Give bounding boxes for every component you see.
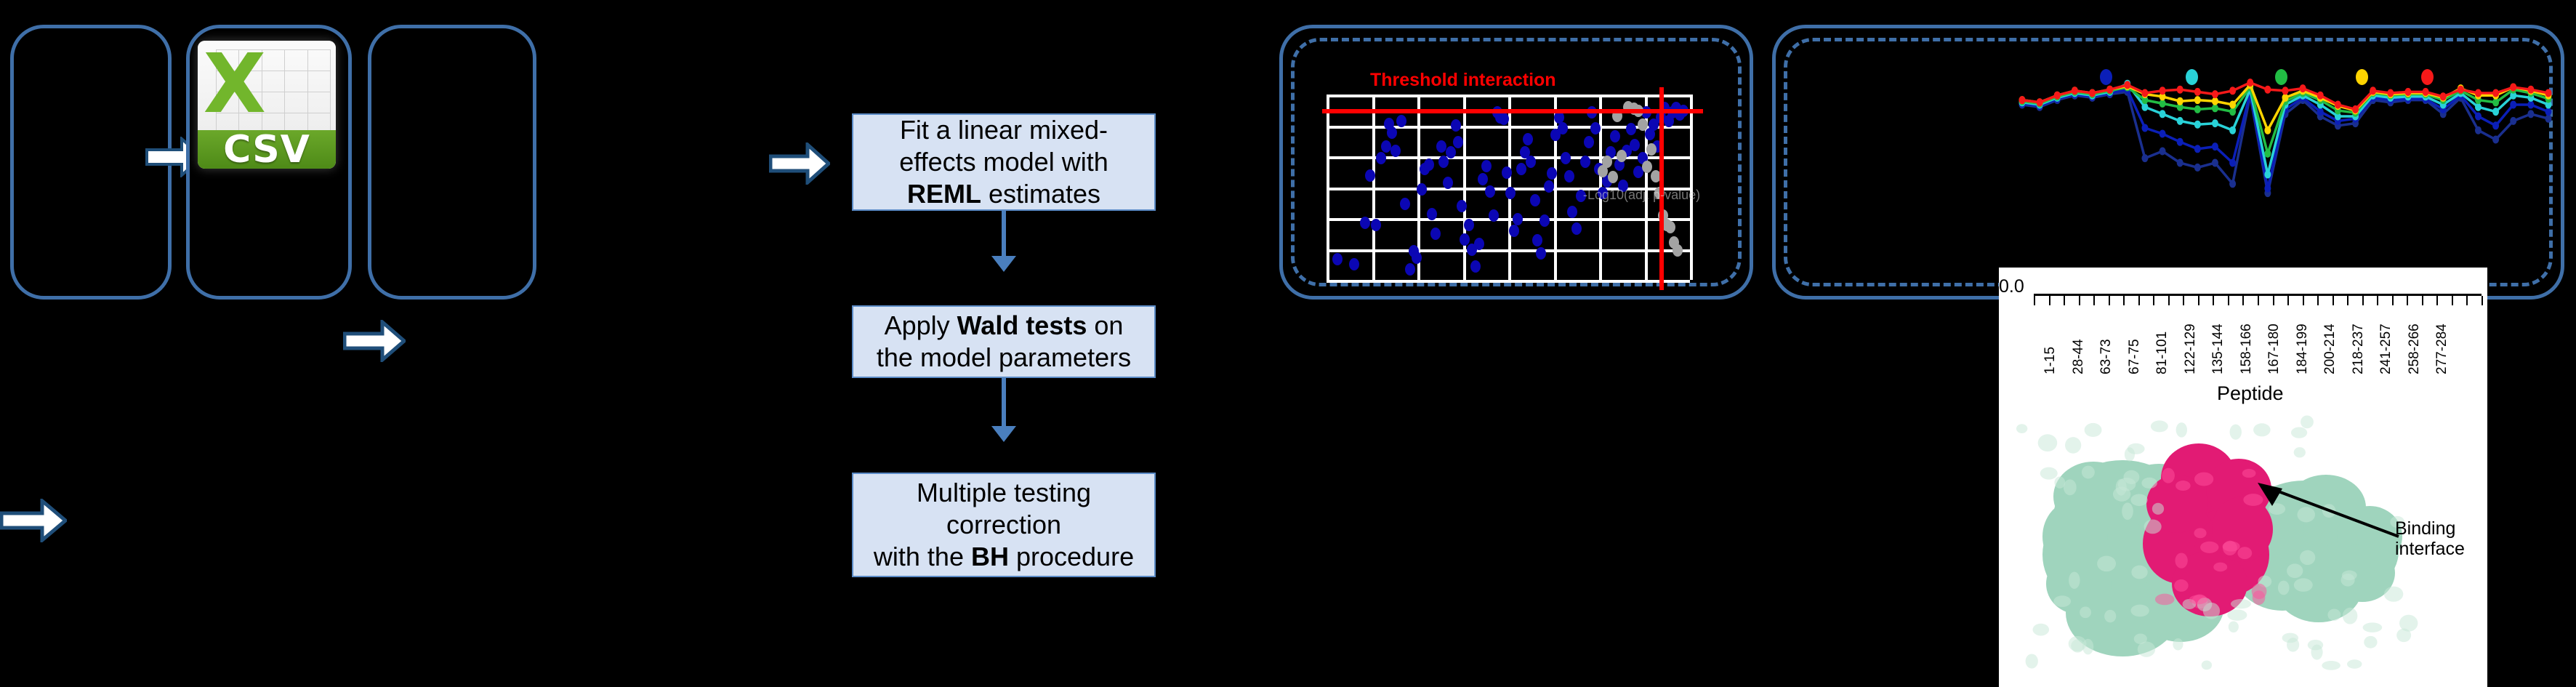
scatter-point [1502,166,1512,179]
excel-x-glyph: X [204,44,259,105]
line-marker [2475,126,2482,134]
line-marker [2194,105,2201,113]
grid-line-v [1372,95,1375,280]
legend-dot-series-blue [2100,69,2112,85]
line-marker [2194,145,2201,153]
surface-blob [2134,633,2147,643]
threshold-interaction-label: Threshold interaction [1370,70,1556,91]
surface-blob [2130,605,2149,617]
scatter-point [1424,158,1434,171]
step-fit-model[interactable]: Fit a linear mixed- effects model with R… [852,113,1156,211]
surface-blob [2131,566,2147,579]
x-axis-ticks [2034,296,2482,306]
x-axis-tick [2034,296,2035,305]
surface-blob [2300,550,2315,565]
surface-blob [2291,427,2307,438]
peptide-label: 28-44 [2071,339,2087,374]
peptide-label: 277-284 [2434,324,2450,374]
scatter-point [1516,163,1526,175]
surface-blob [2016,424,2027,433]
step-fit-model-text: Fit a linear mixed- effects model with R… [899,114,1108,210]
x-axis-tick [2228,296,2229,305]
scatter-point [1387,126,1397,139]
surface-blob [2322,661,2340,670]
x-axis-tick [2287,296,2289,305]
line-marker [2141,154,2148,162]
surface-blob [2173,638,2183,650]
scatter-point [1481,160,1492,172]
surface-blob [2082,466,2095,479]
connector-2-head [991,426,1016,442]
x-axis-tick [2049,296,2050,305]
surface-blob [2308,640,2323,650]
scatter-point [1396,115,1406,127]
surface-blob [2151,420,2168,432]
line-marker [2510,117,2516,125]
scatter-point [1371,219,1381,231]
line-marker [2264,150,2271,158]
surface-blob [2118,478,2136,491]
line-marker [2141,124,2148,132]
scatter-point [1332,253,1343,265]
scatter-point [1349,258,1359,270]
peptide-label: 122-129 [2183,324,2199,374]
peptide-label: 200-214 [2322,324,2338,374]
surface-blob [2194,528,2206,538]
line-marker [2352,105,2359,113]
line-marker [2475,103,2482,111]
surface-blob [2287,563,2303,578]
surface-blob [2097,556,2116,572]
y-axis-tick-zero: 0.0 [1999,276,2024,297]
surface-blob [2174,579,2188,592]
surface-blob [2223,542,2240,552]
surface-blob [2253,423,2271,436]
peptide-label: 184-199 [2295,324,2311,374]
csv-file-icon[interactable]: X CSV [198,41,336,169]
peptide-tick-labels: 1-1528-4463-7367-7581-101122-129135-1441… [2034,308,2482,380]
line-marker [2229,159,2236,167]
peptide-label: 241-257 [2378,324,2394,374]
surface-blob [2213,563,2227,572]
line-marker [2264,126,2271,134]
surface-blob [2327,608,2340,620]
surface-blob [2343,608,2357,624]
surface-blob [2242,469,2256,478]
scatter-point [1536,247,1546,260]
line-marker [2160,130,2166,138]
scatter-axis-note: -Log10(adj. p-value) [1583,188,1700,203]
step-multiple-testing-text: Multiple testing correction with the BH … [874,477,1134,573]
grid-line-h [1327,280,1690,283]
line-marker [2527,110,2534,118]
scatter-point [1539,214,1550,227]
surface-blob [2294,578,2313,592]
arrow-csv-to-analysis [769,142,830,185]
surface-blob [2065,437,2081,454]
scatter-point [1602,156,1612,168]
x-axis-tick [2258,296,2259,305]
line-marker [2194,121,2201,129]
line-marker [2160,100,2166,108]
peptide-label: 158-166 [2239,324,2255,374]
line-marker [2229,108,2236,116]
x-axis-tick [2317,296,2319,305]
x-axis-tick [2422,296,2423,305]
surface-blob [2294,447,2306,457]
x-axis-tick [2392,296,2394,305]
x-axis-tick [2183,296,2184,305]
scatter-point [1485,185,1495,198]
connector-1 [1002,211,1006,260]
surface-blob [2162,468,2175,483]
line-marker [2212,142,2218,150]
scatter-point [1446,146,1456,158]
surface-blob [2176,422,2187,437]
scatter-point [1505,187,1516,199]
x-axis-tick [2242,296,2244,305]
x-axis-title: Peptide [2217,382,2284,405]
peptide-label: 135-144 [2210,324,2226,374]
csv-band: CSV [198,130,336,169]
scatter-point [1580,156,1590,168]
surface-blob [2040,467,2058,480]
line-marker [2229,180,2236,188]
scatter-point [1478,173,1488,185]
x-axis-tick [2153,296,2154,305]
x-axis-tick [2213,296,2214,305]
scatter-point [1513,213,1523,225]
scatter-point [1626,123,1636,135]
line-marker [2194,164,2201,172]
scatter-point [1451,119,1461,132]
x-axis-tick [2452,296,2453,305]
scatter-point [1567,206,1577,218]
scatter-point [1638,118,1648,131]
surface-blob [2194,473,2213,486]
surface-blob [2053,595,2071,607]
scatter-point [1443,177,1453,189]
line-marker [2229,101,2236,109]
surface-blob [2384,587,2403,602]
surface-blob [2071,639,2084,652]
surface-blob [2104,610,2116,623]
scatter-point [1523,133,1533,145]
line-marker [2194,96,2201,104]
surface-blob [2287,638,2299,651]
line-marker [2492,121,2499,129]
peptide-label: 63-73 [2098,339,2114,374]
line-marker [2492,136,2499,144]
scatter-point [1665,221,1675,233]
line-marker [2177,97,2183,105]
peptide-line-chart [2009,73,2561,204]
surface-blob [2278,581,2290,595]
surface-blob [2189,595,2208,604]
surface-blob [2069,571,2080,589]
scatter-point [1376,152,1386,164]
scatter-point [1532,234,1542,246]
scatter-point [1642,161,1652,173]
surface-blob [2347,659,2362,668]
line-marker [2335,101,2341,109]
arrow-input-to-csv [343,320,406,362]
threshold-interaction-line [1322,109,1703,113]
x-axis-tick [2168,296,2170,305]
connector-2 [1002,378,1006,430]
x-axis-tick [2303,296,2304,305]
surface-blob [2152,503,2164,515]
legend-dot-series-yellow [2356,69,2368,85]
line-marker [2212,119,2218,127]
surface-blob [2080,606,2091,618]
line-marker [2212,97,2218,105]
scatter-point [1405,263,1415,276]
csv-band-label: CSV [223,128,310,169]
step-wald-tests-text: Apply Wald tests on the model parameters [877,310,1131,374]
surface-blob [2340,574,2354,587]
line-marker [2440,92,2447,100]
x-axis-tick [2198,296,2199,305]
line-marker [2037,98,2043,106]
line-marker [2510,101,2516,109]
x-axis-tick [2407,296,2408,305]
scatter-point [1400,198,1410,210]
line-marker [2527,101,2534,109]
step-multiple-testing[interactable]: Multiple testing correction with the BH … [852,473,1156,577]
step-wald-tests[interactable]: Apply Wald tests on the model parameters [852,305,1156,378]
line-marker [2212,104,2218,112]
scatter-point [1464,219,1474,231]
surface-blob [2200,542,2218,553]
scatter-point [1489,209,1499,222]
surface-blob [2237,547,2252,559]
surface-blob [2144,520,2162,534]
line-marker [2229,126,2236,134]
arrow-analysis-to-results [0,499,67,542]
x-axis-tick [2138,296,2140,305]
surface-blob [2064,479,2077,495]
scatter-point [1584,136,1594,148]
statistical-analysis-panel [368,25,536,300]
surface-blob [2301,415,2314,428]
scatter-point [1617,150,1627,162]
x-axis-tick [2333,296,2334,305]
scatter-point [1460,233,1470,246]
surface-blob [2125,447,2135,461]
line-marker [2177,117,2183,125]
surface-blob [2202,660,2212,670]
surface-blob [2230,425,2242,440]
line-marker [2177,138,2183,146]
surface-blob [2396,629,2411,643]
scatter-point [1509,225,1519,237]
surface-blob [2364,636,2377,648]
scatter-point [1436,140,1446,153]
x-axis-tick [2064,296,2065,305]
x-axis-tick [2482,296,2483,305]
line-marker [2492,108,2499,116]
scatter-point [1571,222,1582,235]
line-marker [2212,90,2218,98]
peptide-label: 81-101 [2154,332,2170,374]
line-marker [2141,103,2148,111]
grid-line-v [1463,95,1466,280]
protein-surface-model [2013,409,2420,678]
scatter-point [1630,139,1640,151]
line-marker [2317,108,2324,116]
scatter-point [1610,130,1620,142]
line-marker [2492,98,2499,106]
peptide-label: 67-75 [2127,339,2143,374]
surface-blob [2026,654,2038,669]
scatter-point [1430,228,1441,240]
x-axis-tick [2093,296,2095,305]
surface-blob [2175,481,2191,491]
surface-blob [2363,622,2383,632]
scatter-point [1558,122,1568,134]
surface-blob [2082,639,2093,655]
legend-dot-series-red [2421,69,2434,85]
x-axis-tick [2123,296,2125,305]
scatter-point [1365,169,1375,182]
surface-blob [2231,599,2251,608]
line-marker [2019,96,2026,104]
line-marker [2177,159,2183,167]
scatter-point [1590,122,1601,134]
scatter-point [1470,260,1481,273]
line-marker [2282,94,2289,102]
surface-blob [2175,553,2187,568]
surface-blob [2253,590,2266,605]
scatter-point [1417,183,1427,196]
scatter-point [1564,170,1574,182]
scatter-point [1526,156,1536,168]
scatter-point [1646,143,1657,156]
scatter-point [1544,180,1554,193]
x-axis-tick [2347,296,2348,305]
legend-dot-series-cyan [2186,69,2198,85]
scatter-point [1390,145,1401,157]
surface-blob [2229,621,2239,632]
surface-blob [2033,624,2050,636]
peptide-inset-panel: 0.0 1-1528-4463-7367-7581-101122-129135-… [1999,268,2487,687]
x-axis-tick [2436,296,2438,305]
line-marker [2264,185,2271,193]
scatter-point [1453,136,1463,148]
surface-blob [2085,423,2102,437]
line-marker [2317,92,2324,100]
surface-blob [2130,494,2147,506]
line-marker [2054,92,2061,100]
peptide-label: 167-180 [2266,324,2282,374]
x-axis-tick [2466,296,2468,305]
surface-blob [2141,478,2157,489]
line-chart-legend [2009,69,2561,91]
protein-structure-svg [2013,409,2420,678]
line-chart-svg [2009,73,2561,204]
line-marker [2212,159,2218,167]
peptide-label: 218-237 [2351,324,2367,374]
surface-blob [2038,434,2058,451]
scatter-point [1381,140,1391,153]
x-axis-tick [2377,296,2378,305]
scatter-point [1457,200,1467,212]
legend-dot-series-green [2275,69,2287,85]
surface-blob [2122,502,2133,520]
scatter-point [1561,152,1571,164]
connector-1-head [991,256,1016,272]
surface-blob [2227,609,2247,620]
scatter-point [1360,217,1370,229]
line-marker [2545,108,2552,116]
line-marker [2545,115,2552,123]
grid-line-v [1327,95,1329,280]
x-axis-tick [2109,296,2110,305]
scatter-point [1499,113,1509,125]
x-axis-tick [2362,296,2364,305]
line-marker [2475,113,2482,121]
surface-blob [2155,594,2175,606]
scatter-point [1673,244,1683,257]
x-axis-tick [2273,296,2274,305]
line-marker [2160,110,2166,118]
line-marker [2264,171,2271,179]
binding-interface-arrow [2253,478,2406,544]
peptide-label: 1-15 [2042,347,2058,374]
peptide-label: 258-266 [2407,324,2423,374]
scatter-point [1530,194,1540,206]
line-marker [2160,148,2166,156]
x-axis-tick [2079,296,2080,305]
scatter-point [1608,171,1618,183]
